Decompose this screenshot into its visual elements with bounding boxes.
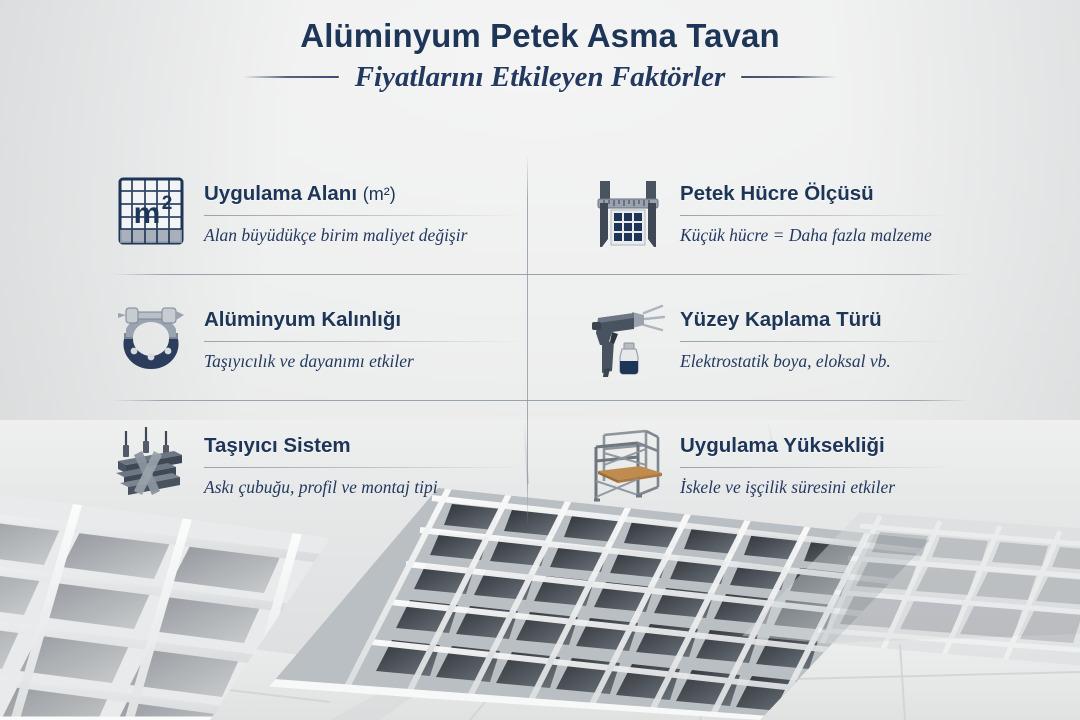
subtitle-row: Fiyatlarını Etkileyen Faktörler	[0, 61, 1080, 94]
factor-desc: Askı çubuğu, profil ve montaj tipi	[204, 477, 524, 497]
factor-desc: Küçük hücre = Daha fazla malzeme	[680, 225, 952, 245]
svg-text:2: 2	[162, 193, 173, 214]
factor-title: Alüminyum Kalınlığı	[204, 309, 524, 332]
page-title: Alüminyum Petek Asma Tavan	[0, 18, 1080, 54]
title-rule	[204, 467, 524, 468]
factor-title: Taşıyıcı Sistem	[204, 435, 524, 458]
factor-text: Taşıyıcı Sistem Askı çubuğu, profil ve m…	[204, 433, 524, 497]
factor-item-tasiyici-sistem[interactable]: Taşıyıcı Sistem Askı çubuğu, profil ve m…	[112, 402, 540, 528]
factor-desc: Elektrostatik boya, eloksal vb.	[680, 351, 952, 371]
factor-item-aluminyum-kalinligi[interactable]: Alüminyum Kalınlığı Taşıyıcılık ve dayan…	[112, 276, 540, 402]
title-rule	[204, 215, 524, 216]
factor-text: Uygulama Yüksekliği İskele ve işçilik sü…	[680, 433, 952, 497]
scaffold-icon	[588, 425, 666, 505]
caliper-honeycomb-icon	[588, 173, 666, 253]
factors-grid: m 2 Uygulama Alanı (m²) Alan büyüdükçe b…	[112, 150, 968, 528]
factor-desc: Alan büyüdükçe birim maliyet değişir	[204, 225, 524, 245]
subtitle-dash-right	[741, 76, 837, 78]
factor-title-text: Taşıyıcı Sistem	[204, 434, 351, 457]
factor-title-text: Petek Hücre Ölçüsü	[680, 182, 874, 205]
factor-item-petek-hucre-olcusu[interactable]: Petek Hücre Ölçüsü Küçük hücre = Daha fa…	[540, 150, 968, 276]
page-subtitle: Fiyatlarını Etkileyen Faktörler	[355, 61, 726, 94]
row-divider-1	[112, 274, 968, 275]
title-rule	[680, 341, 952, 342]
factor-desc: İskele ve işçilik süresini etkiler	[680, 477, 952, 497]
suspension-grid-icon	[112, 425, 190, 505]
svg-text:m: m	[134, 197, 161, 230]
row-divider-2	[112, 400, 968, 401]
factor-title: Petek Hücre Ölçüsü	[680, 183, 952, 206]
factor-title-text: Alüminyum Kalınlığı	[204, 308, 401, 331]
title-rule	[680, 215, 952, 216]
factor-title-text: Uygulama Yüksekliği	[680, 434, 885, 457]
factor-title: Uygulama Alanı (m²)	[204, 183, 524, 206]
factor-item-yuzey-kaplama-turu[interactable]: Yüzey Kaplama Türü Elektrostatik boya, e…	[540, 276, 968, 402]
spray-gun-icon	[588, 299, 666, 379]
factor-title-text: Uygulama Alanı	[204, 182, 357, 205]
column-divider	[527, 154, 528, 526]
title-rule	[204, 341, 524, 342]
micrometer-icon	[112, 299, 190, 379]
subtitle-dash-left	[243, 76, 339, 78]
factor-text: Alüminyum Kalınlığı Taşıyıcılık ve dayan…	[204, 307, 524, 371]
area-grid-m2-icon: m 2	[112, 173, 190, 253]
header: Alüminyum Petek Asma Tavan Fiyatlarını E…	[0, 18, 1080, 94]
title-rule	[680, 467, 952, 468]
factor-text: Uygulama Alanı (m²) Alan büyüdükçe birim…	[204, 181, 524, 245]
factor-desc: Taşıyıcılık ve dayanımı etkiler	[204, 351, 524, 371]
factor-title-unit: (m²)	[363, 184, 396, 204]
factor-title: Uygulama Yüksekliği	[680, 435, 952, 458]
factor-title-text: Yüzey Kaplama Türü	[680, 308, 882, 331]
factor-item-uygulama-alani[interactable]: m 2 Uygulama Alanı (m²) Alan büyüdükçe b…	[112, 150, 540, 276]
factor-item-uygulama-yuksekligi[interactable]: Uygulama Yüksekliği İskele ve işçilik sü…	[540, 402, 968, 528]
factor-text: Petek Hücre Ölçüsü Küçük hücre = Daha fa…	[680, 181, 952, 245]
factor-text: Yüzey Kaplama Türü Elektrostatik boya, e…	[680, 307, 952, 371]
factor-title: Yüzey Kaplama Türü	[680, 309, 952, 332]
infographic-canvas: Alüminyum Petek Asma Tavan Fiyatlarını E…	[0, 0, 1080, 720]
